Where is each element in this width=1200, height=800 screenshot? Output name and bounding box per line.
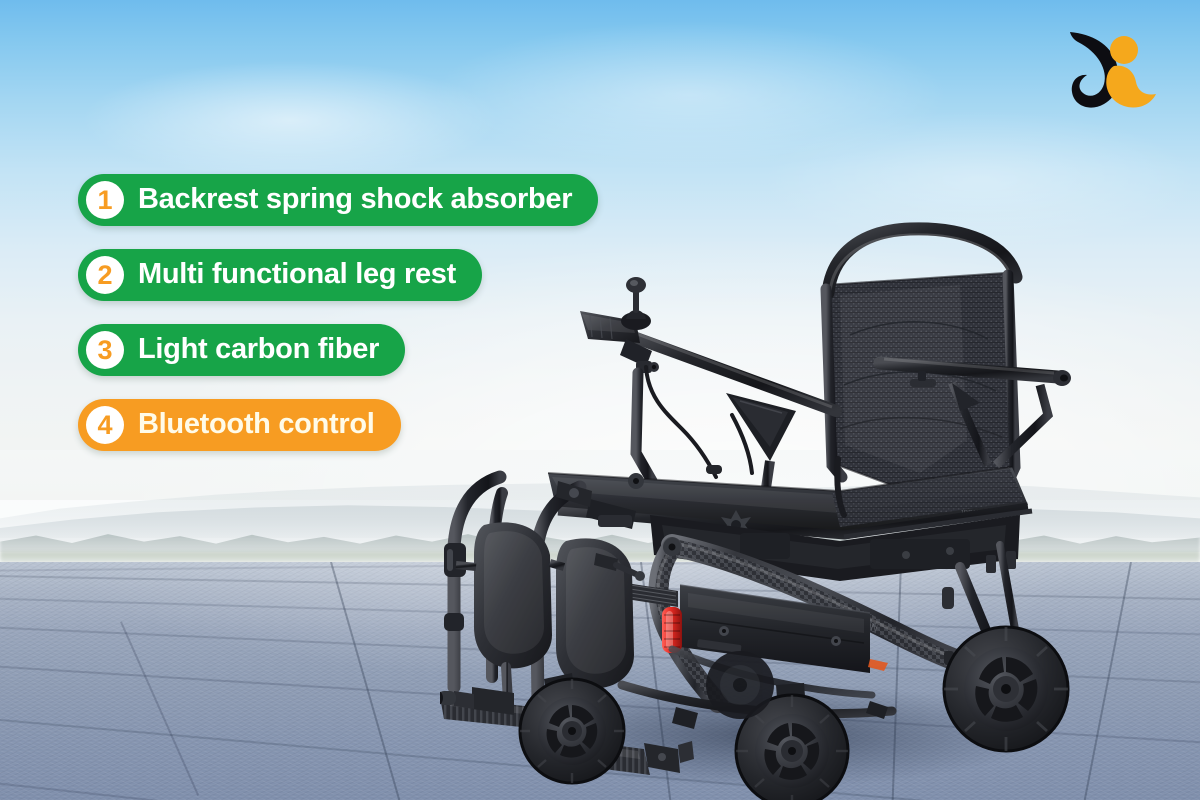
banner-canvas: 1 Backrest spring shock absorber 2 Multi… [0,0,1200,800]
feature-label: Backrest spring shock absorber [138,185,572,216]
rear-drive-wheel-left [706,651,774,719]
legrest-clamp [444,613,464,631]
brand-logo[interactable] [1062,22,1168,118]
feature-label: Light carbon fiber [138,335,379,366]
feature-label: Multi functional leg rest [138,260,456,291]
rear-drive-wheel-right [944,627,1068,751]
armrest-bar-left [580,311,836,411]
control-cable [646,367,716,477]
feature-number-badge: 3 [86,331,124,369]
product-image-electric-wheelchair: JBDH CARBON [440,215,1080,800]
legrest-support-arm [456,565,476,567]
feature-label: Bluetooth control [138,410,375,441]
feature-number-badge: 2 [86,256,124,294]
elevating-leg-rest-pad-left [474,522,552,668]
feature-pill-2[interactable]: 2 Multi functional leg rest [78,249,482,301]
feature-number-badge: 1 [86,181,124,219]
joystick-controller [621,277,651,330]
feature-pill-3[interactable]: 3 Light carbon fiber [78,324,405,376]
cable-tag [868,659,888,671]
feature-pill-4[interactable]: 4 Bluetooth control [78,399,401,451]
cable-clip [706,465,722,474]
feature-number-badge: 4 [86,406,124,444]
logo-body-icon [1106,66,1156,108]
logo-head-icon [1110,36,1138,64]
legrest-support-arm [550,563,564,567]
